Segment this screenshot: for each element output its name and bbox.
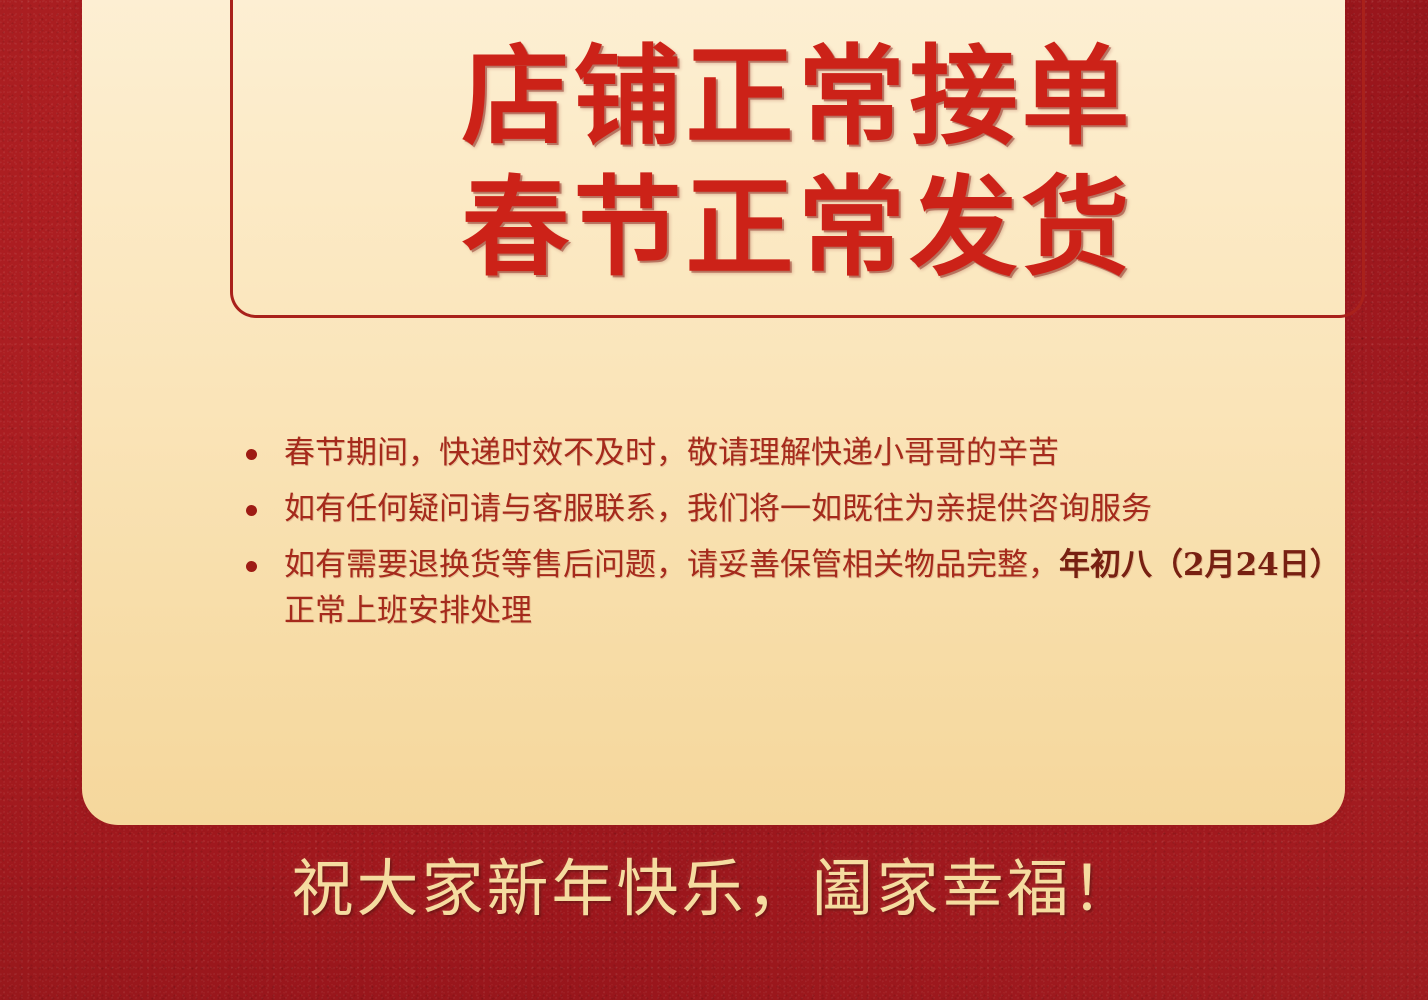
new-year-shipping-notice-poster: 店铺正常接单 春节正常发货 春节期间，快递时效不及时，敬请理解快递小哥哥的辛苦 …	[0, 0, 1428, 1000]
notice-item-3-prefix: 如有需要退换货等售后问题，请妥善保管相关物品完整，	[284, 547, 1059, 583]
notice-item-3: 如有需要退换货等售后问题，请妥善保管相关物品完整，年初八（2月24日）正常上班安…	[234, 542, 1369, 634]
cream-content-panel: 店铺正常接单 春节正常发货 春节期间，快递时效不及时，敬请理解快递小哥哥的辛苦 …	[82, 0, 1345, 825]
notice-item-1-text: 春节期间，快递时效不及时，敬请理解快递小哥哥的辛苦	[284, 435, 1059, 471]
notice-list: 春节期间，快递时效不及时，敬请理解快递小哥哥的辛苦 如有任何疑问请与客服联系，我…	[234, 430, 1369, 644]
headline-line-1: 店铺正常接单	[461, 37, 1133, 158]
new-year-greeting: 祝大家新年快乐，阖家幸福！	[0, 855, 1428, 923]
notice-item-2: 如有任何疑问请与客服联系，我们将一如既往为亲提供咨询服务	[234, 486, 1369, 532]
notice-item-1: 春节期间，快递时效不及时，敬请理解快递小哥哥的辛苦	[234, 430, 1369, 476]
notice-item-3-emphasis-date: 年初八（2月24日）	[1059, 547, 1341, 583]
notice-item-3-suffix: 正常上班安排处理	[284, 593, 532, 629]
headline-frame: 店铺正常接单 春节正常发货	[230, 0, 1365, 318]
notice-item-2-text: 如有任何疑问请与客服联系，我们将一如既往为亲提供咨询服务	[284, 491, 1152, 527]
headline-line-2: 春节正常发货	[461, 168, 1133, 289]
